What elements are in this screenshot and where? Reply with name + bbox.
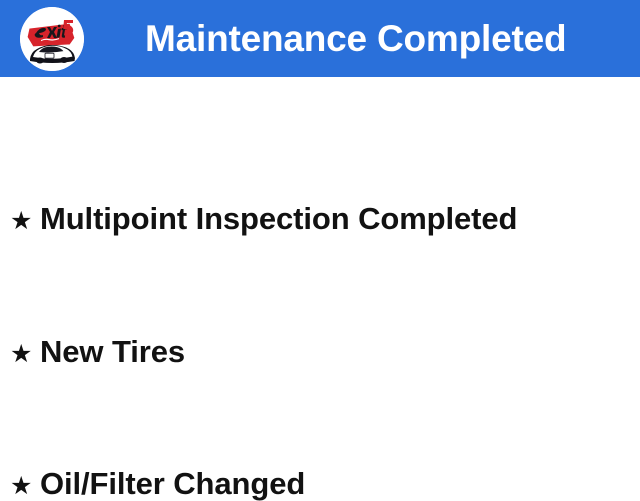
- list-item-label: Oil/Filter Changed: [40, 468, 305, 499]
- list-item: ★ Oil/Filter Changed: [10, 468, 305, 499]
- star-bullet-icon: ★: [10, 341, 40, 366]
- maintenance-completed-slide: Maintenance Completed ★ Multipoint Inspe…: [0, 0, 640, 480]
- page-title: Maintenance Completed: [145, 0, 566, 77]
- star-bullet-icon: ★: [10, 208, 40, 233]
- list-item: ★ Multipoint Inspection Completed: [10, 203, 517, 234]
- list-item-label: Multipoint Inspection Completed: [40, 203, 517, 234]
- exit-5-auto-sales-logo: [20, 7, 84, 71]
- star-bullet-icon: ★: [10, 473, 40, 498]
- list-item-label: New Tires: [40, 336, 185, 367]
- list-item: ★ New Tires: [10, 336, 185, 367]
- header-bar: Maintenance Completed: [0, 0, 640, 77]
- maintenance-items-list: ★ Multipoint Inspection Completed ★ New …: [0, 77, 640, 480]
